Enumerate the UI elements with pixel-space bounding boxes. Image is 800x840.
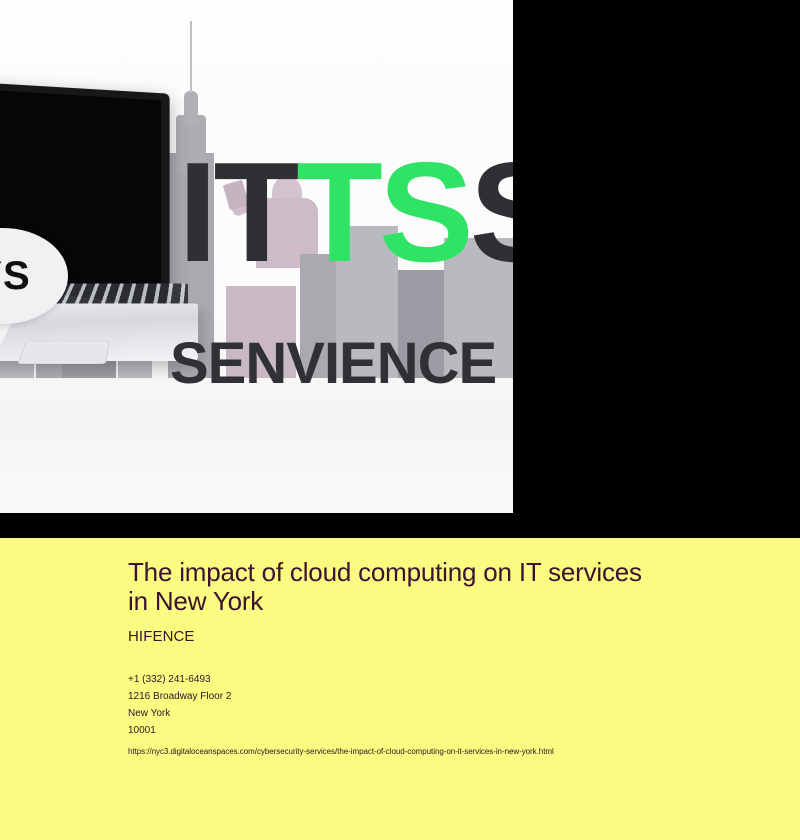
hero-image: YS ITTSS SENVIENCE <box>0 0 513 513</box>
hero-word-green: TS <box>296 133 469 292</box>
hero-word-dark-suffix: S <box>470 133 513 292</box>
contact-phone: +1 (332) 241-6493 <box>128 671 760 688</box>
contact-zip: 10001 <box>128 722 760 739</box>
speech-bubble-text: YS <box>0 254 31 299</box>
info-card-content: The impact of cloud computing on IT serv… <box>128 558 760 756</box>
laptop-trackpad <box>17 341 110 364</box>
page-root: YS ITTSS SENVIENCE The impact of cloud c… <box>0 0 800 840</box>
hero-overlay-word-bottom: SENVIENCE <box>170 330 496 397</box>
contact-city: New York <box>128 705 760 722</box>
hero-overlay-word-top: ITTSS <box>178 148 513 279</box>
contact-street: 1216 Broadway Floor 2 <box>128 688 760 705</box>
source-url[interactable]: https://nyc3.digitaloceanspaces.com/cybe… <box>128 747 760 756</box>
info-card: The impact of cloud computing on IT serv… <box>0 538 800 840</box>
empire-state-building-antenna <box>190 21 192 93</box>
page-title: The impact of cloud computing on IT serv… <box>128 558 668 617</box>
brand-name: HIFENCE <box>128 628 760 645</box>
hero-word-dark-prefix: IT <box>178 133 296 292</box>
contact-block: +1 (332) 241-6493 1216 Broadway Floor 2 … <box>128 671 760 740</box>
